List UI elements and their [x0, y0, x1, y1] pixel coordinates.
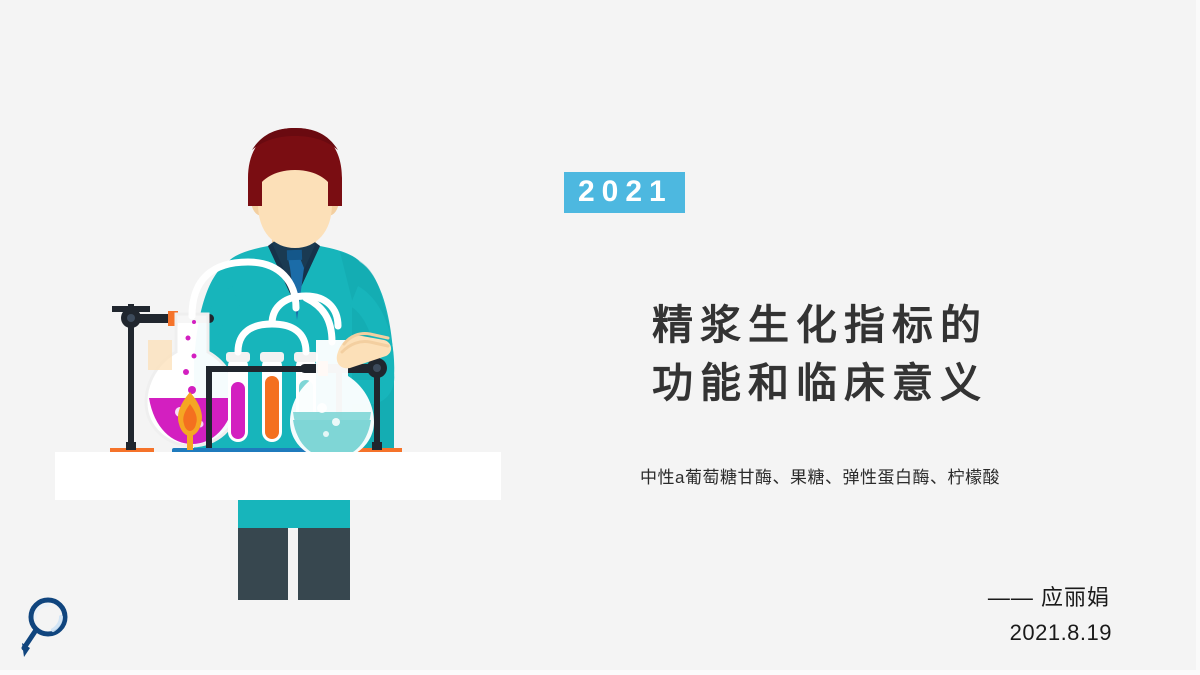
right-edge-strip — [1196, 0, 1200, 675]
presentation-date: 2021.8.19 — [540, 620, 1112, 646]
presentation-slide: 2021 精浆生化指标的 功能和临床意义 中性a葡萄糖甘酶、果糖、弹性蛋白酶、柠… — [0, 0, 1200, 675]
lab-table — [55, 452, 501, 500]
test-tube-magenta — [226, 352, 250, 442]
author-name: —— 应丽娟 — [540, 580, 1110, 612]
page-subtitle: 中性a葡萄糖甘酶、果糖、弹性蛋白酶、柠檬酸 — [540, 467, 1100, 489]
page-title-line-1: 精浆生化指标的 — [540, 296, 1100, 354]
bottom-edge-strip — [0, 670, 1200, 675]
scientist-lab-illustration — [0, 0, 560, 675]
test-tube-orange — [260, 352, 284, 442]
scientist-legs — [238, 498, 350, 600]
year-badge: 2021 — [564, 172, 685, 213]
page-title: 精浆生化指标的 功能和临床意义 — [540, 296, 1100, 412]
scientist-head — [248, 128, 342, 248]
magnifier-icon — [8, 591, 80, 663]
page-title-line-2: 功能和临床意义 — [540, 354, 1100, 412]
slide-text-content: 2021 精浆生化指标的 功能和临床意义 中性a葡萄糖甘酶、果糖、弹性蛋白酶、柠… — [540, 0, 1140, 675]
